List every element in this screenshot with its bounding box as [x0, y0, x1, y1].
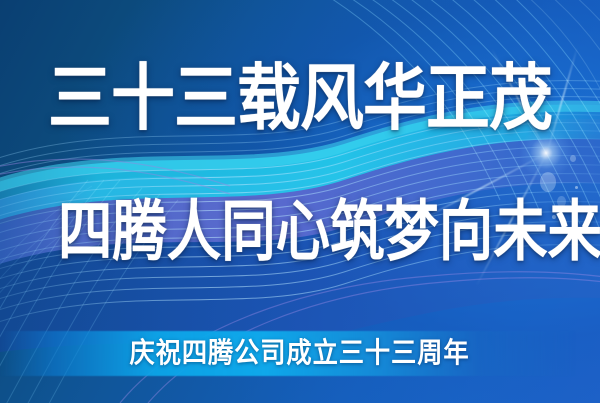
bokeh-dot — [570, 155, 576, 162]
anniversary-banner: 三十三载风华正茂 四腾人同心筑梦向未来 庆祝四腾公司成立三十三周年 — [0, 0, 600, 403]
headline-line-1: 三十三载风华正茂 — [0, 61, 600, 137]
bokeh-dot — [540, 172, 556, 192]
subtitle-text: 庆祝四腾公司成立三十三周年 — [0, 336, 600, 372]
headline-line-2: 四腾人同心筑梦向未来 — [0, 196, 600, 266]
bokeh-dot — [575, 186, 578, 189]
